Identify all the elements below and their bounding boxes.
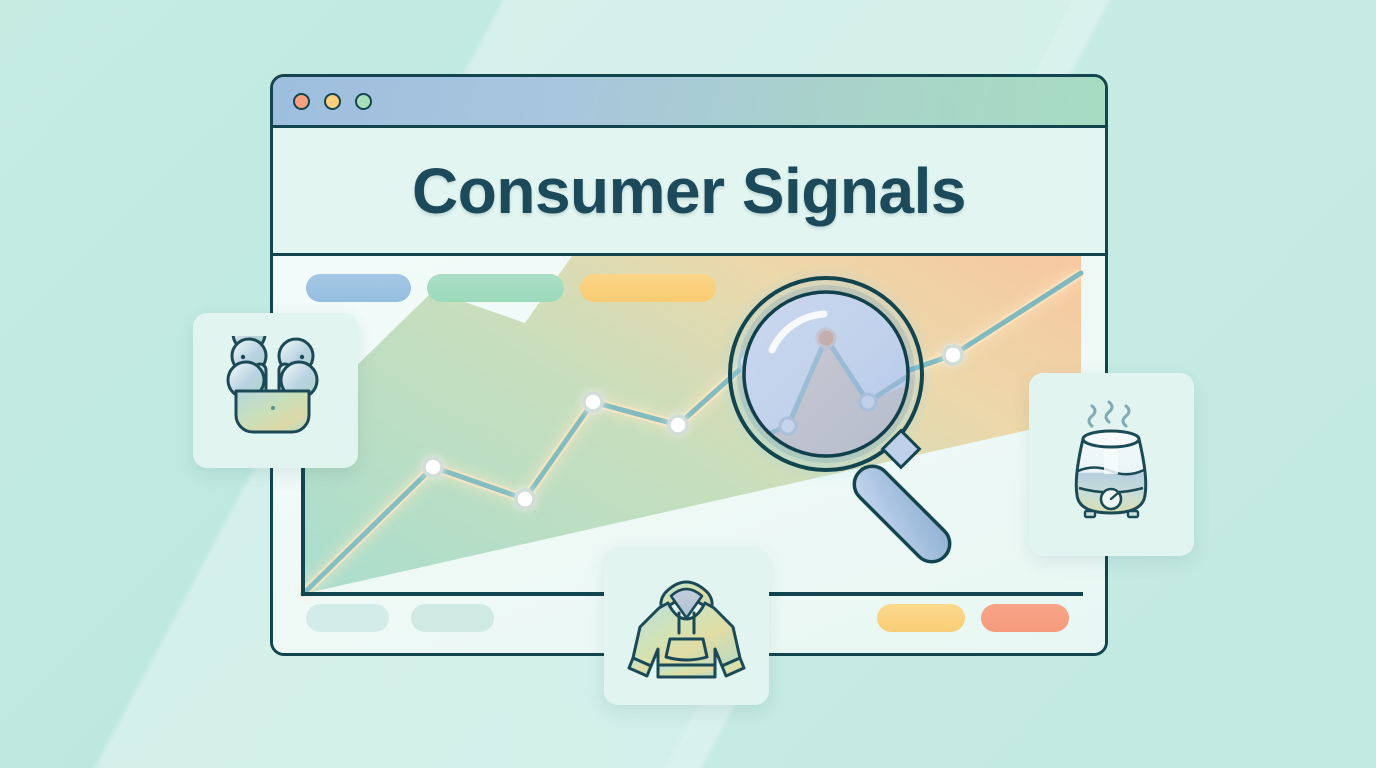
chart-highlight-point [817, 329, 835, 347]
page-title: Consumer Signals [412, 154, 966, 228]
humidifier-icon [1049, 392, 1174, 537]
magnifier-handle[interactable] [847, 459, 957, 569]
magnifier-highlight-arc [772, 314, 824, 350]
magnifier-glow [716, 264, 936, 484]
chart-point [424, 458, 442, 476]
page-header: Consumer Signals [273, 128, 1105, 256]
hoodie-icon [624, 565, 749, 687]
footer-chip-row-left [306, 604, 494, 632]
footer-chip-3[interactable] [877, 604, 965, 632]
chart-point [820, 373, 836, 389]
chart-line [303, 273, 1081, 594]
earbuds-icon [216, 336, 336, 446]
window-titlebar [273, 77, 1105, 128]
product-card-earbuds[interactable] [193, 313, 358, 468]
footer-chip-2[interactable] [411, 604, 494, 632]
filter-chip-3[interactable] [580, 274, 716, 302]
footer-chip-row-right [877, 604, 1069, 632]
window-maximize-dot[interactable] [355, 93, 372, 110]
magnifier-neck [883, 431, 920, 468]
chart-point [739, 353, 757, 371]
product-card-humidifier[interactable] [1029, 373, 1194, 556]
screenshot-stage: Consumer Signals [0, 0, 1376, 768]
magnifier-inner-rim [744, 292, 908, 456]
chart-point [944, 346, 962, 364]
window-close-dot[interactable] [293, 93, 310, 110]
magnifier-content [744, 292, 908, 456]
filter-chip-row [306, 274, 716, 302]
window-minimize-dot[interactable] [324, 93, 341, 110]
footer-chip-1[interactable] [306, 604, 389, 632]
filter-chip-1[interactable] [306, 274, 411, 302]
product-card-hoodie[interactable] [604, 547, 769, 705]
footer-chip-4[interactable] [981, 604, 1069, 632]
magnifier-outer-rim [730, 278, 922, 470]
chart-line-glow [303, 273, 1081, 594]
magnifying-glass[interactable] [716, 264, 957, 569]
magnifier-rim-band [737, 285, 915, 463]
filter-chip-2[interactable] [427, 274, 564, 302]
chart-point [584, 393, 602, 411]
chart-point [669, 416, 687, 434]
steam-wisps [1089, 402, 1129, 426]
magnifier-lens [744, 292, 908, 456]
chart-markers [424, 346, 962, 508]
chart-point [516, 490, 534, 508]
chart-area-fill [303, 256, 1081, 594]
